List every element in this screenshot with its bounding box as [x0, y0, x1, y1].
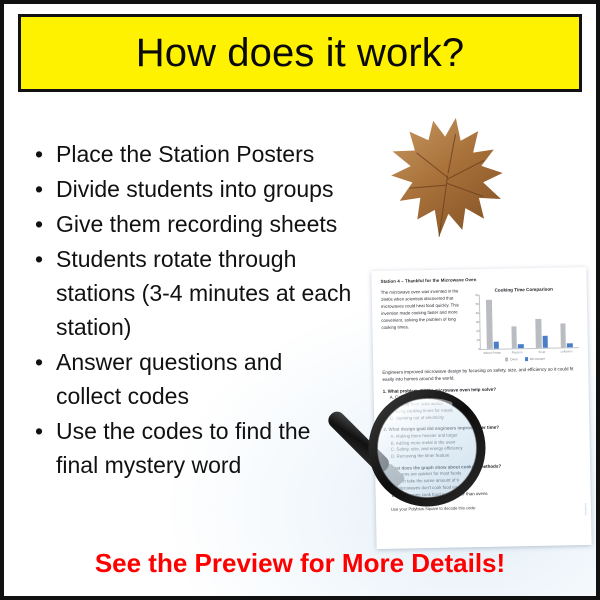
legend-label: Oven	[510, 357, 518, 361]
chart-bar-microwave	[494, 341, 500, 348]
legend-item-oven: Oven	[505, 357, 518, 361]
y-tick: 30	[476, 320, 480, 324]
chart-bar-group	[535, 319, 548, 348]
chart-bar-group	[511, 326, 524, 349]
question-text: What design goal did engineers improve o…	[388, 425, 499, 432]
x-tick: Leftovers	[554, 349, 579, 353]
question-number: 3.	[384, 465, 388, 470]
page-title: How does it work?	[136, 33, 465, 73]
legend-swatch-oven	[505, 358, 508, 361]
y-tick: 60	[475, 293, 479, 297]
y-tick: 0	[478, 347, 480, 351]
bullet-icon: •	[22, 414, 56, 448]
worksheet-question: 3. What does the graph show about cookin…	[384, 462, 582, 499]
worksheet-side-note: Boomerang	[584, 503, 587, 515]
question-text: What does the graph show about cooking m…	[389, 463, 501, 470]
chart-bar-group	[486, 299, 499, 349]
worksheet-lead-in: Engineers improved microwave design by f…	[382, 365, 579, 383]
footer: See the Preview for More Details!	[4, 548, 596, 579]
chart-bar-groups	[480, 293, 579, 349]
chart-legend: Oven Microwave	[471, 356, 579, 362]
worksheet-footer-note: Use your Polybius Square to decode this …	[391, 503, 582, 512]
list-item: • Give them recording sheets	[22, 207, 352, 241]
list-item-label: Give them recording sheets	[56, 207, 337, 241]
list-item: • Students rotate through stations (3-4 …	[22, 242, 352, 344]
list-item-label: Use the codes to find the final mystery …	[56, 414, 352, 482]
x-tick: Soup	[529, 350, 554, 354]
list-item: • Place the Station Posters	[22, 137, 352, 171]
worksheet-station-title: Station 4 – Thankful for the Microwave O…	[381, 275, 578, 284]
y-tick: 10	[476, 338, 480, 342]
chart-bar-group	[560, 323, 573, 348]
chart-bar-oven	[486, 299, 493, 349]
worksheet-question: 1. What problem did the microwave oven h…	[383, 385, 581, 422]
x-tick: Baked Potato	[480, 351, 505, 355]
x-tick: Popcorn	[505, 350, 530, 354]
preview-callout: See the Preview for More Details!	[95, 548, 505, 578]
list-item-label: Answer questions and collect codes	[56, 345, 352, 413]
chart-bar-oven	[560, 323, 566, 347]
slide: How does it work? • Place the Station Po…	[0, 0, 600, 600]
worksheet-preview[interactable]: Station 4 – Thankful for the Microwave O…	[371, 267, 591, 549]
question-text: What problem did the microwave oven help…	[388, 386, 496, 393]
chart-bar-microwave	[567, 344, 573, 348]
chart-title: Cooking Time Comparison	[470, 286, 578, 293]
list-item-label: Divide students into groups	[56, 172, 333, 206]
list-item: • Answer questions and collect codes	[22, 345, 352, 413]
bullet-icon: •	[22, 242, 56, 276]
list-item-label: Students rotate through stations (3-4 mi…	[56, 242, 352, 344]
y-tick: 20	[476, 329, 480, 333]
chart-plot-area: 60 50 40 30 20 10 0	[479, 293, 579, 350]
chart-bar-oven	[535, 319, 541, 348]
chart-bar-microwave	[518, 345, 524, 349]
bullet-icon: •	[22, 345, 56, 379]
question-number: 1.	[383, 389, 387, 394]
cooking-time-chart: Cooking Time Comparison 60 50 40 30 20 1…	[470, 286, 579, 362]
bullet-list: • Place the Station Posters • Divide stu…	[22, 137, 352, 483]
worksheet-paragraph: The microwave oven was invented in the 1…	[381, 288, 464, 364]
worksheet-question: 2. What design goal did engineers improv…	[383, 423, 581, 460]
legend-item-microwave: Microwave	[525, 357, 545, 361]
bullet-icon: •	[22, 207, 56, 241]
title-banner: How does it work?	[18, 14, 582, 92]
question-number: 2.	[383, 427, 387, 432]
list-item: • Use the codes to find the final myster…	[22, 414, 352, 482]
legend-label: Microwave	[530, 357, 545, 361]
y-tick: 50	[476, 302, 480, 306]
maple-leaf-icon	[376, 105, 514, 255]
list-item: • Divide students into groups	[22, 172, 352, 206]
bullet-icon: •	[22, 172, 56, 206]
list-item-label: Place the Station Posters	[56, 137, 314, 171]
chart-bar-oven	[511, 326, 517, 349]
y-tick: 40	[476, 311, 480, 315]
chart-bar-microwave	[542, 336, 548, 348]
legend-swatch-microwave	[525, 357, 528, 360]
bullet-icon: •	[22, 137, 56, 171]
chart-x-axis: Baked Potato Popcorn Soup Leftovers	[480, 349, 579, 355]
